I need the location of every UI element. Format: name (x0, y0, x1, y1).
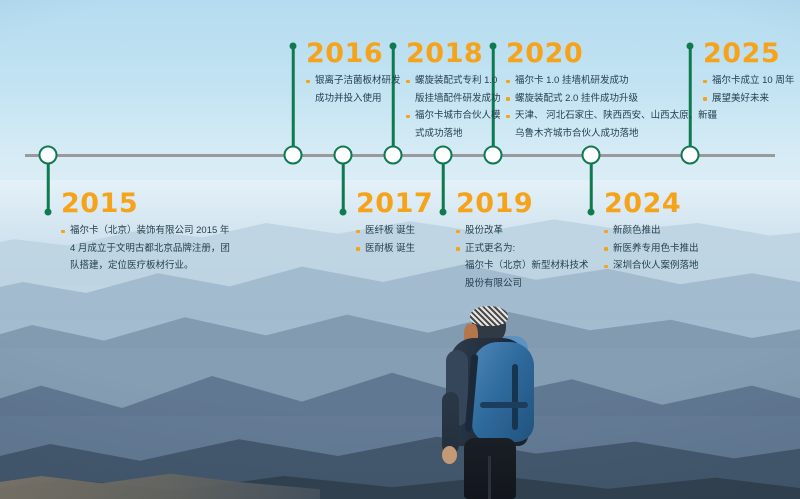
timeline-entry-2017[interactable]: 2017医纤板 诞生医耐板 诞生 (356, 190, 433, 259)
timeline-bullet-item: 螺旋装配式专利 1.0 (406, 74, 501, 89)
timeline-bullet-item: 式成功落地 (406, 127, 501, 142)
timeline-stem-2016 (292, 46, 295, 155)
backpack-cinch (480, 402, 528, 408)
timeline-bullet-list-2020: 福尔卡 1.0 挂墙机研发成功螺旋装配式 2.0 挂件成功升级天津、 河北石家庄… (506, 74, 717, 142)
backpack-strap-right (512, 364, 518, 430)
timeline-bullet-item: 螺旋装配式 2.0 挂件成功升级 (506, 92, 717, 107)
timeline-year-label-2015: 2015 (61, 190, 230, 217)
timeline-bullet-item: 成功并投入使用 (306, 92, 401, 107)
timeline-bullet-item: 4 月成立于文明古都北京品牌注册，团 (61, 242, 230, 257)
timeline-bullet-list-2015: 福尔卡（北京）装饰有限公司 2015 年4 月成立于文明古都北京品牌注册，团队搭… (61, 224, 230, 274)
timeline-endcap-2024 (588, 209, 595, 216)
timeline-node-2019[interactable] (434, 146, 453, 165)
timeline-entry-2020[interactable]: 2020福尔卡 1.0 挂墙机研发成功螺旋装配式 2.0 挂件成功升级天津、 河… (506, 40, 717, 145)
hiker-leg-split (488, 456, 491, 499)
timeline-bullet-list-2025: 福尔卡成立 10 周年展望美好未来 (703, 74, 794, 106)
timeline-endcap-2019 (440, 209, 447, 216)
timeline-bullet-list-2016: 银离子洁菌板材研发成功并投入使用 (306, 74, 401, 106)
timeline-bullet-list-2017: 医纤板 诞生医耐板 诞生 (356, 224, 433, 256)
timeline-entry-2024[interactable]: 2024新颜色推出新医养专用色卡推出深圳合伙人案例落地 (604, 190, 699, 277)
timeline-bullet-item: 福尔卡 1.0 挂墙机研发成功 (506, 74, 717, 89)
timeline-bullet-item: 医纤板 诞生 (356, 224, 433, 239)
timeline-bullet-item: 天津、 河北石家庄、陕西西安、山西太原、新疆 (506, 109, 717, 124)
timeline-bullet-list-2018: 螺旋装配式专利 1.0版挂墙配件研发成功福尔卡城市合伙人模式成功落地 (406, 74, 501, 142)
timeline-year-label-2016: 2016 (306, 40, 401, 67)
hiker-arm (442, 392, 459, 454)
timeline-endcap-2015 (45, 209, 52, 216)
timeline-year-label-2024: 2024 (604, 190, 699, 217)
timeline-year-label-2019: 2019 (456, 190, 589, 217)
timeline-bullet-item: 股份改革 (456, 224, 589, 239)
timeline-bullet-item: 福尔卡（北京）装饰有限公司 2015 年 (61, 224, 230, 239)
timeline-node-2025[interactable] (681, 146, 700, 165)
timeline-year-label-2020: 2020 (506, 40, 717, 67)
timeline-endcap-2016 (290, 43, 297, 50)
timeline-bullet-item: 深圳合伙人案例落地 (604, 259, 699, 274)
timeline-node-2020[interactable] (484, 146, 503, 165)
timeline-bullet-item: 福尔卡城市合伙人模 (406, 109, 501, 124)
timeline-bullet-item: 银离子洁菌板材研发 (306, 74, 401, 89)
hiker-figure (424, 306, 574, 499)
hiker-hand (442, 446, 457, 464)
timeline-bullet-item: 正式更名为: (456, 242, 589, 257)
timeline-bullet-item: 队搭建，定位医疗板材行业。 (61, 259, 230, 274)
timeline-bullet-list-2024: 新颜色推出新医养专用色卡推出深圳合伙人案例落地 (604, 224, 699, 274)
timeline-node-2015[interactable] (39, 146, 58, 165)
backpack (472, 342, 534, 442)
timeline-bullet-item: 版挂墙配件研发成功 (406, 92, 501, 107)
timeline-node-2017[interactable] (334, 146, 353, 165)
timeline-bullet-list-2019: 股份改革正式更名为:福尔卡（北京）新型材料技术股份有限公司 (456, 224, 589, 292)
timeline-year-label-2018: 2018 (406, 40, 501, 67)
timeline-year-label-2017: 2017 (356, 190, 433, 217)
timeline-endcap-2017 (340, 209, 347, 216)
timeline-node-2018[interactable] (384, 146, 403, 165)
hiker-beanie (470, 306, 508, 326)
timeline-bullet-item: 医耐板 诞生 (356, 242, 433, 257)
timeline-entry-2016[interactable]: 2016银离子洁菌板材研发成功并投入使用 (306, 40, 401, 109)
timeline-year-label-2025: 2025 (703, 40, 794, 67)
timeline-bullet-item: 福尔卡（北京）新型材料技术 (456, 259, 589, 274)
timeline-bullet-item: 展望美好未来 (703, 92, 794, 107)
timeline-entry-2025[interactable]: 2025福尔卡成立 10 周年展望美好未来 (703, 40, 794, 109)
timeline-bullet-item: 福尔卡成立 10 周年 (703, 74, 794, 89)
timeline-node-2016[interactable] (284, 146, 303, 165)
timeline-bullet-item: 股份有限公司 (456, 277, 589, 292)
timeline-entry-2019[interactable]: 2019股份改革正式更名为:福尔卡（北京）新型材料技术股份有限公司 (456, 190, 589, 295)
timeline-entry-2018[interactable]: 2018螺旋装配式专利 1.0版挂墙配件研发成功福尔卡城市合伙人模式成功落地 (406, 40, 501, 145)
timeline-node-2024[interactable] (582, 146, 601, 165)
timeline-bullet-item: 乌鲁木齐城市合伙人成功落地 (506, 127, 717, 142)
timeline-bullet-item: 新颜色推出 (604, 224, 699, 239)
timeline-infographic: 2015福尔卡（北京）装饰有限公司 2015 年4 月成立于文明古都北京品牌注册… (0, 0, 800, 499)
timeline-entry-2015[interactable]: 2015福尔卡（北京）装饰有限公司 2015 年4 月成立于文明古都北京品牌注册… (61, 190, 230, 277)
timeline-bullet-item: 新医养专用色卡推出 (604, 242, 699, 257)
